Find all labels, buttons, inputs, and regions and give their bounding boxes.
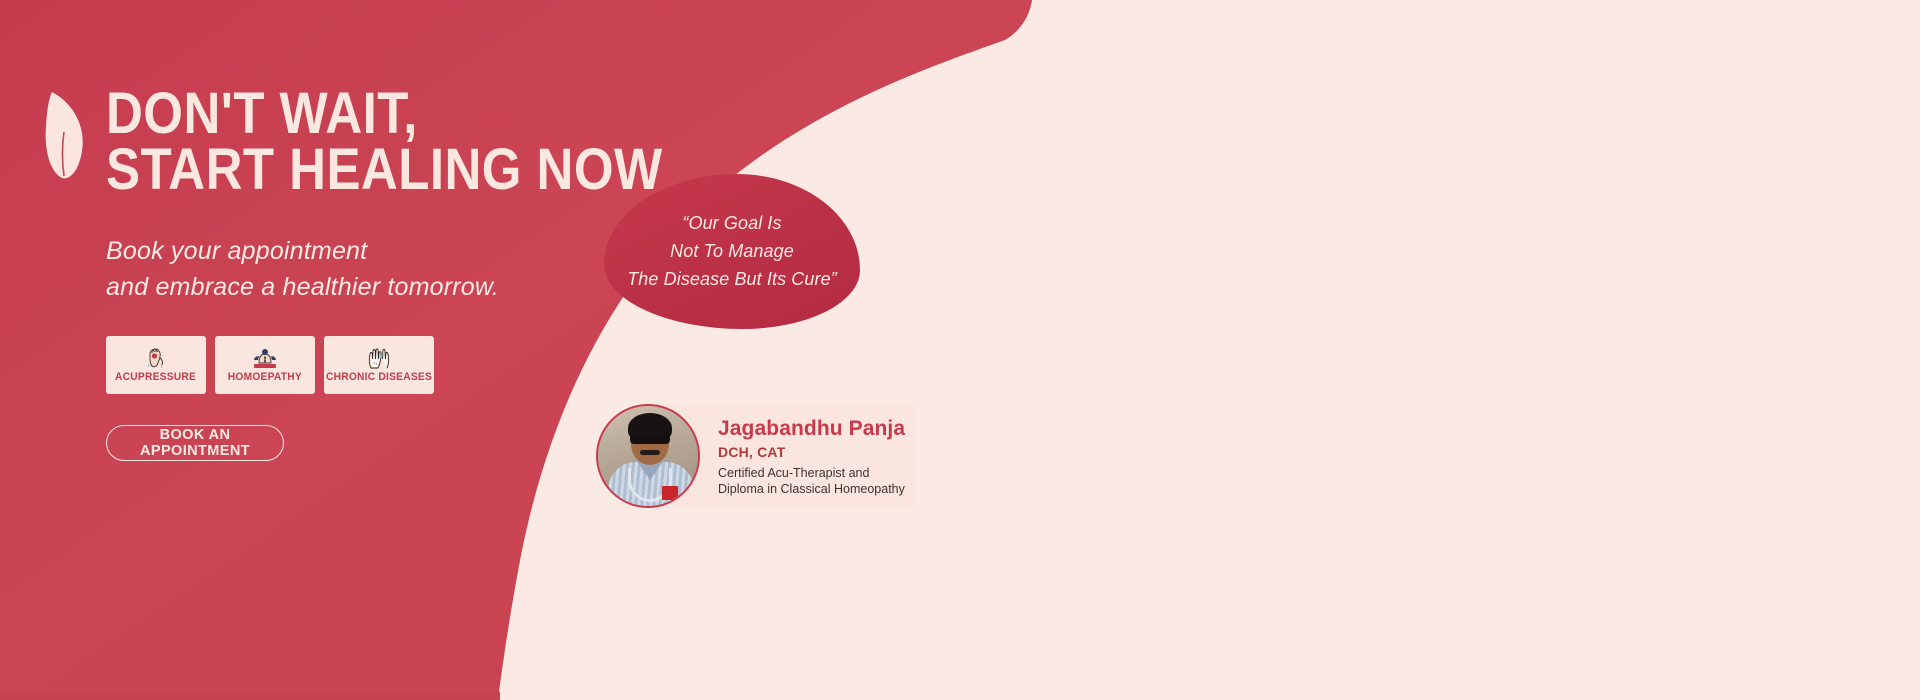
avatar-pocket [662,486,678,500]
quote-text: “Our Goal Is Not To Manage The Disease B… [604,174,860,329]
doctor-description: Certified Acu-Therapist and Diploma in C… [718,466,905,498]
quote-line-1: “Our Goal Is [682,211,781,236]
category-pill-chronic-diseases[interactable]: CHRONIC DISEASES [324,336,434,394]
doctor-description-line-1: Certified Acu-Therapist and [718,466,905,482]
doctor-name: Jagabandhu Panja [718,417,905,440]
leaf-icon [44,88,88,180]
left-content-panel: DON'T WAIT, START HEALING NOW Book your … [0,0,640,700]
avatar-moustache [640,450,660,455]
category-label-acupressure: ACUPRESSURE [115,371,196,383]
avatar [596,404,700,508]
page-title: DON'T WAIT, START HEALING NOW [106,86,663,197]
doctor-info: Jagabandhu Panja DCH, CAT Certified Acu-… [718,417,905,498]
category-pill-homoepathy[interactable]: HOMOEPATHY [215,336,315,394]
bottom-strip-red [0,692,500,700]
quote-blob: “Our Goal Is Not To Manage The Disease B… [604,174,860,329]
category-label-homoepathy: HOMOEPATHY [228,371,302,383]
healing-hands-icon [367,347,391,369]
subtitle-line-1: Book your appointment [106,233,499,269]
foot-acupressure-icon [146,347,166,369]
doctor-credentials: DCH, CAT [718,444,905,460]
subtitle-line-2: and embrace a healthier tomorrow. [106,269,499,305]
subtitle: Book your appointment and embrace a heal… [106,233,499,305]
category-pill-acupressure[interactable]: ACUPRESSURE [106,336,206,394]
category-pill-group: ACUPRESSURE HOMOEPATHY [106,336,434,394]
quote-line-2: Not To Manage [670,239,794,264]
hero-banner: DON'T WAIT, START HEALING NOW Book your … [0,0,1920,700]
back-massage-icon [253,347,277,369]
headline-line-2: START HEALING NOW [106,142,663,198]
doctor-credential-card: Jagabandhu Panja DCH, CAT Certified Acu-… [596,404,916,508]
sunglasses-icon [630,434,670,444]
quote-line-3: The Disease But Its Cure” [627,267,837,292]
doctor-description-line-2: Diploma in Classical Homeopathy [718,482,905,498]
category-label-chronic-diseases: CHRONIC DISEASES [326,371,432,383]
book-appointment-button[interactable]: BOOK AN APPOINTMENT [106,425,284,461]
